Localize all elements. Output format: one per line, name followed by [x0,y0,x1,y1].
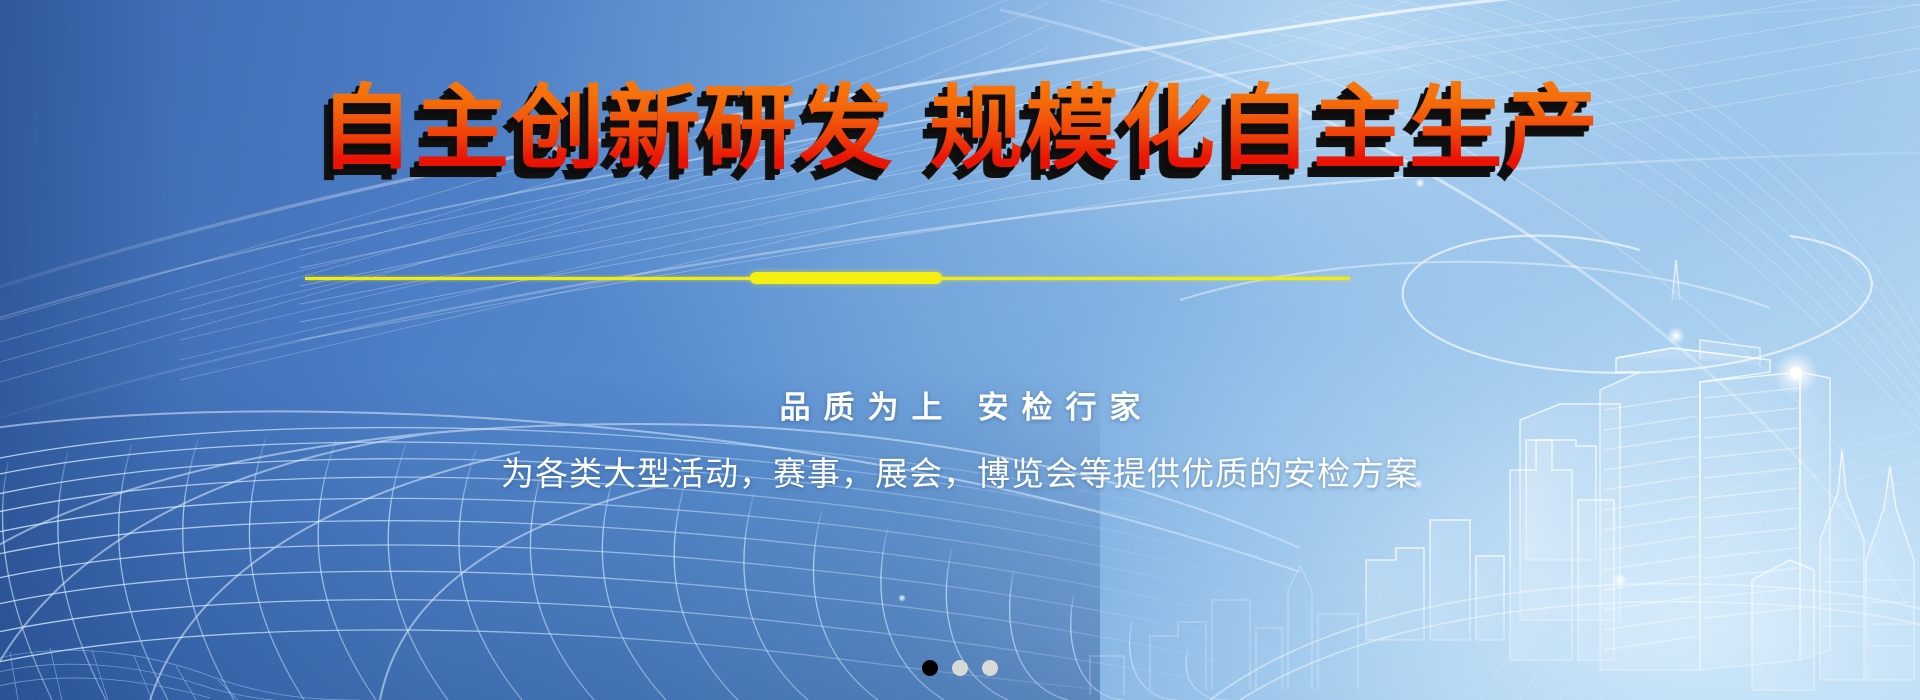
divider-thick-segment [750,272,942,284]
carousel-dot-3[interactable] [982,660,998,676]
banner-subtitle-secondary: 为各类大型活动，赛事，展会，博览会等提供优质的安检方案 [0,452,1920,496]
headline-part-2: 规模化自主生产 [929,75,1600,182]
carousel-dot-1[interactable] [922,660,938,676]
banner-subtitle-primary: 品质为上安检行家 [0,388,1920,428]
hero-banner: 自主创新研发规模化自主生产 品质为上安检行家 为各类大型活动，赛事，展会，博览会… [0,0,1920,700]
banner-headline: 自主创新研发规模化自主生产 [0,78,1920,180]
subtitle-segment-2: 安检行家 [978,390,1154,425]
yellow-divider [305,270,1350,288]
subtitle-segment-1: 品质为上 [780,390,956,425]
carousel-dots [0,660,1920,676]
headline-part-1: 自主创新研发 [319,75,894,182]
carousel-dot-2[interactable] [952,660,968,676]
